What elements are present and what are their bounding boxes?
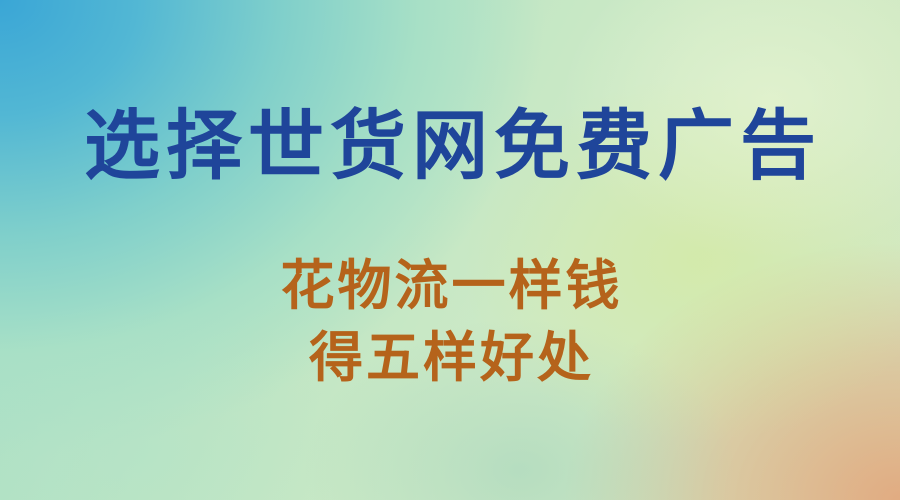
banner-headline: 选择世货网免费广告 [0,104,900,188]
banner-content: 选择世货网免费广告 花物流一样钱 得五样好处 [0,0,900,500]
banner-subtitle-line-2: 得五样好处 [0,322,900,394]
promo-banner: 选择世货网免费广告 花物流一样钱 得五样好处 [0,0,900,500]
banner-subtitle: 花物流一样钱 得五样好处 [0,250,900,394]
banner-subtitle-line-1: 花物流一样钱 [0,250,900,322]
